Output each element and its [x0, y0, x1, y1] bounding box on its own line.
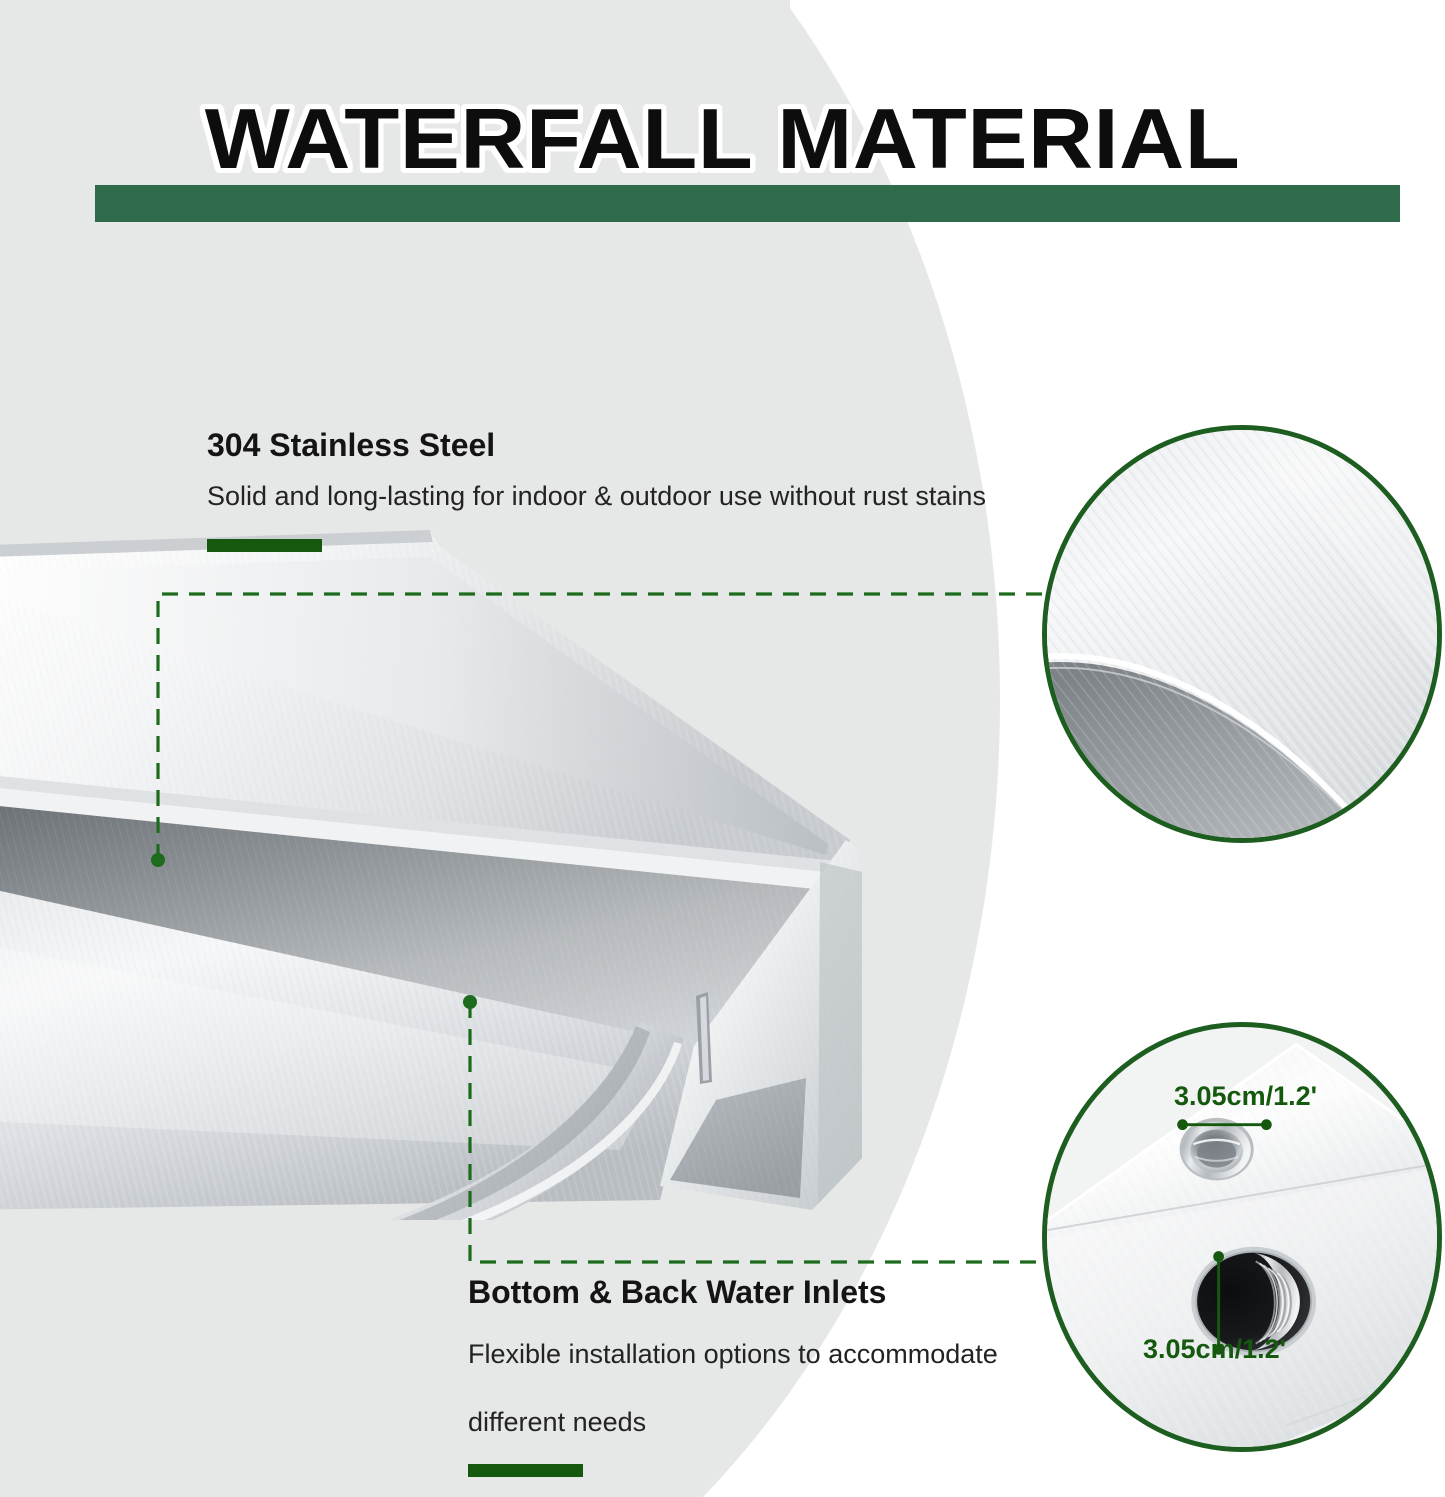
- feature-block-water-inlets: Bottom & Back Water Inlets Flexible inst…: [468, 1274, 998, 1477]
- feature-description-water-inlets-line1: Flexible installation options to accommo…: [468, 1329, 998, 1379]
- feature-title-stainless-steel: 304 Stainless Steel: [207, 427, 986, 464]
- feature-accent-bar-stainless-steel: [207, 539, 322, 552]
- feature-block-stainless-steel: 304 Stainless Steel Solid and long-lasti…: [207, 427, 986, 552]
- title-underline-bar: [95, 185, 1400, 222]
- steel-surface-closeup-image: [1047, 430, 1437, 838]
- page-title: WATERFALL MATERIAL: [0, 92, 1445, 188]
- product-image: [0, 510, 880, 1220]
- back-water-inlet-port: [1180, 1118, 1254, 1181]
- callout-circle-steel-surface: [1042, 425, 1442, 843]
- product-illustration: [0, 510, 880, 1220]
- dimension-label-bottom-inlet: 3.05cm/1.2': [1143, 1334, 1286, 1365]
- dimension-label-back-inlet: 3.05cm/1.2': [1174, 1081, 1317, 1112]
- callout-circle-water-inlets: 3.05cm/1.2' 3.05cm/1.2': [1042, 1022, 1442, 1452]
- feature-title-water-inlets: Bottom & Back Water Inlets: [468, 1274, 998, 1311]
- feature-description-stainless-steel: Solid and long-lasting for indoor & outd…: [207, 481, 986, 512]
- feature-description-water-inlets-line2: different needs: [468, 1397, 998, 1447]
- feature-accent-bar-water-inlets: [468, 1464, 583, 1477]
- infographic-canvas: WATERFALL MATERIAL: [0, 0, 1445, 1497]
